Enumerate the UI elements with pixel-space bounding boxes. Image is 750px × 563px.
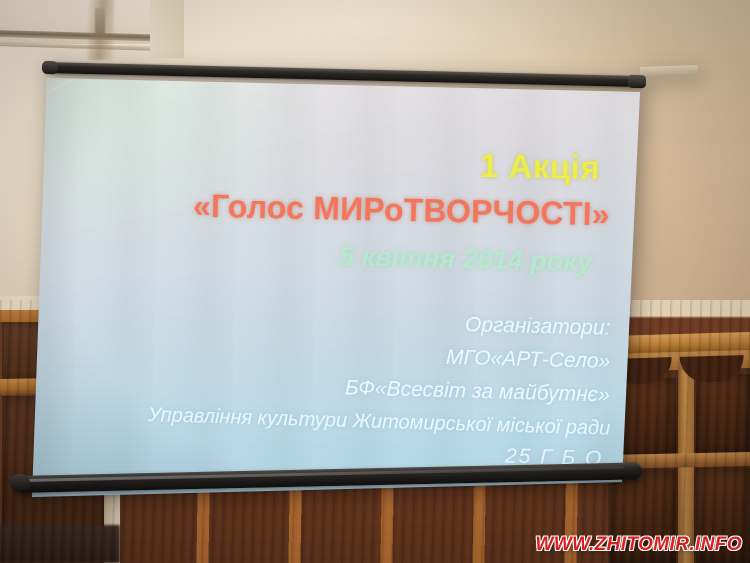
screen-wall-bracket xyxy=(640,65,698,76)
projection-screen-assembly: 1 Акція «Голос МИРоТВОРЧОСТІ» 5 квітня 2… xyxy=(0,0,750,563)
screen-roller-end-cap-right xyxy=(628,75,646,88)
slide-subtitle: «Голос МИРоТВОРЧОСТІ» xyxy=(193,188,610,234)
slide-title: 1 Акція xyxy=(480,147,601,187)
slide-organizer-1: МГО«АРТ-Село» xyxy=(445,346,610,374)
screen-bottom-end-cap-left xyxy=(10,474,30,492)
slide-organizers-label: Організатори: xyxy=(464,313,610,341)
slide-organizer-2: БФ«Всесвіт за майбутнє» xyxy=(345,376,610,407)
photograph: 1 Акція «Голос МИРоТВОРЧОСТІ» 5 квітня 2… xyxy=(0,0,750,563)
slide-date: 5 квітня 2014 року xyxy=(338,241,592,278)
screen-roller-end-cap-left xyxy=(42,61,58,74)
slide-organizer-3: Управління культури Житомирської міської… xyxy=(147,404,610,441)
